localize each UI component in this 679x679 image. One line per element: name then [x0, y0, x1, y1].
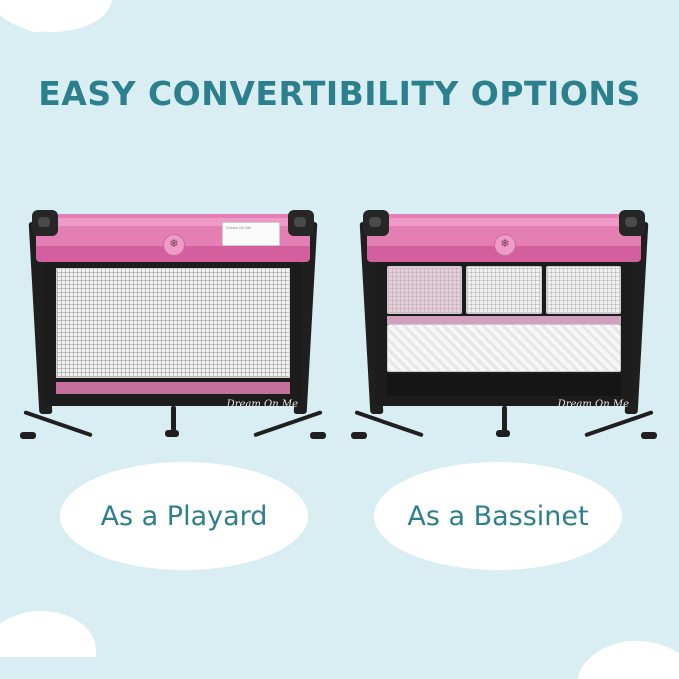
foot-left	[351, 432, 367, 439]
brand-emblem-icon: ❄	[163, 234, 185, 256]
bassinet-lower-frame	[387, 374, 621, 396]
bassinet-illustration: ❄ Dream On Me	[345, 196, 663, 446]
brand-logo-text: Dream On Me	[227, 399, 298, 410]
foot-center	[165, 430, 179, 437]
bassinet-body	[375, 258, 633, 406]
bassinet-panel	[387, 266, 462, 314]
cloud-bottom-right-icon	[577, 641, 679, 679]
mesh-panel	[56, 268, 290, 378]
page-title: EASY CONVERTIBILITY OPTIONS	[0, 74, 679, 113]
bassinet-mattress	[387, 324, 621, 372]
foot-left	[20, 432, 36, 439]
corner-hub-right	[619, 210, 645, 236]
corner-hub-left	[363, 210, 389, 236]
foot-right	[641, 432, 657, 439]
cloud-top-left-icon	[0, 0, 112, 32]
playard-body	[44, 258, 302, 406]
hang-tag: Dream On Me	[222, 222, 280, 246]
corner-hub-left	[32, 210, 58, 236]
cloud-bottom-left-icon	[0, 611, 96, 657]
caption-bubble-playard: As a Playard	[60, 462, 308, 570]
caption-text-bassinet: As a Bassinet	[407, 501, 588, 532]
top-rail-highlight	[371, 218, 637, 226]
corner-hub-right	[288, 210, 314, 236]
product-feature-image: EASY CONVERTIBILITY OPTIONS ❄ Dream On M…	[0, 0, 679, 679]
bassinet-insert	[387, 266, 621, 396]
bassinet-divider	[387, 316, 621, 324]
caption-text-playard: As a Playard	[101, 501, 268, 532]
brand-emblem-icon: ❄	[494, 234, 516, 256]
bassinet-panel	[466, 266, 541, 314]
playard-illustration: ❄ Dream On Me Dream On Me	[14, 196, 332, 446]
brand-logo-text: Dream On Me	[558, 399, 629, 410]
bassinet-upper-panels	[387, 266, 621, 314]
bassinet-panel	[546, 266, 621, 314]
foot-right	[310, 432, 326, 439]
lower-fabric-strip	[56, 382, 290, 394]
product-image-playard: ❄ Dream On Me Dream On Me	[14, 196, 332, 446]
foot-center	[496, 430, 510, 437]
caption-bubble-bassinet: As a Bassinet	[374, 462, 622, 570]
product-image-bassinet: ❄ Dream On Me	[345, 196, 663, 446]
